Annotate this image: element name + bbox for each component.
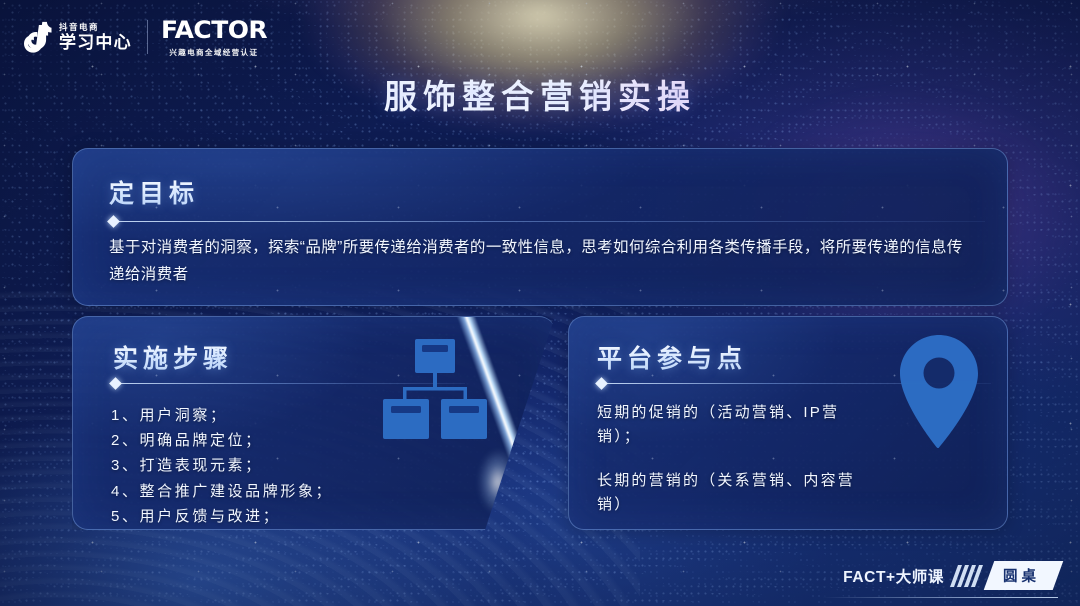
douyin-main-label: 学习中心 <box>59 34 132 51</box>
card-goal-body: 基于对消费者的洞察，探索“品牌”所要传递给消费者的一致性信息，思考如何综合利用各… <box>109 234 977 288</box>
card-goal-heading: 定目标 <box>109 174 199 210</box>
brand-header: 抖音电商 学习中心 FACTOR 兴趣电商全域经营认证 <box>22 16 265 58</box>
location-pin-icon <box>893 333 985 455</box>
footer-badge-label: 圆桌 <box>1003 565 1040 586</box>
factor-wordmark: FACTOR <box>161 16 267 44</box>
list-item: 2、明确品牌定位； <box>111 428 333 453</box>
factor-logo[interactable]: FACTOR 兴趣电商全域经营认证 <box>163 16 265 58</box>
douyin-note-icon <box>22 21 52 54</box>
slash-separator-icon <box>954 565 979 587</box>
steps-list: 1、用户洞察； 2、明确品牌定位； 3、打造表现元素； 4、整合推广建设品牌形象… <box>111 403 333 529</box>
diamond-bullet-icon <box>595 377 608 390</box>
platform-paragraphs: 短期的促销的（活动营销、IP营销）； 长期的营销的（关系营销、内容营销） <box>597 401 865 517</box>
list-item: 3、打造表现元素； <box>111 453 333 478</box>
diamond-bullet-icon <box>107 215 120 228</box>
footer-course-label: FACT+大师课 <box>843 565 944 587</box>
list-item: 短期的促销的（活动营销、IP营销）； <box>597 401 865 449</box>
page-title: 服饰整合营销实操 <box>0 70 1080 118</box>
list-item: 4、整合推广建设品牌形象； <box>111 479 333 504</box>
card-goal-rule <box>109 217 985 226</box>
diamond-bullet-icon <box>109 377 122 390</box>
footer-brand: FACT+大师课 圆桌 <box>843 561 1058 590</box>
douyin-sub-label: 抖音电商 <box>59 23 99 32</box>
footer-badge: 圆桌 <box>984 561 1064 590</box>
card-platform-heading: 平台参与点 <box>597 339 747 375</box>
slide-stage: 抖音电商 学习中心 FACTOR 兴趣电商全域经营认证 服饰整合营销实操 定目标… <box>0 0 1080 606</box>
card-platform: 平台参与点 短期的促销的（活动营销、IP营销）； 长期的营销的（关系营销、内容营… <box>568 316 1008 530</box>
rule-line <box>117 221 985 222</box>
card-steps: 实施步骤 1、用户洞察； 2、明确品牌定位； 3、打造表现元素； 4、整合推广建… <box>72 316 555 530</box>
list-item: 5、用户反馈与改进； <box>111 504 333 529</box>
card-goal: 定目标 基于对消费者的洞察，探索“品牌”所要传递给消费者的一致性信息，思考如何综… <box>72 148 1008 306</box>
card-steps-heading: 实施步骤 <box>113 339 233 375</box>
hierarchy-chart-icon <box>381 337 489 455</box>
douyin-logo[interactable]: 抖音电商 学习中心 <box>22 21 132 54</box>
header-divider <box>147 20 148 54</box>
list-item: 1、用户洞察； <box>111 403 333 428</box>
list-item: 长期的营销的（关系营销、内容营销） <box>597 469 865 517</box>
factor-subtitle: 兴趣电商全域经营认证 <box>169 47 258 58</box>
footer-underline <box>822 597 1058 598</box>
